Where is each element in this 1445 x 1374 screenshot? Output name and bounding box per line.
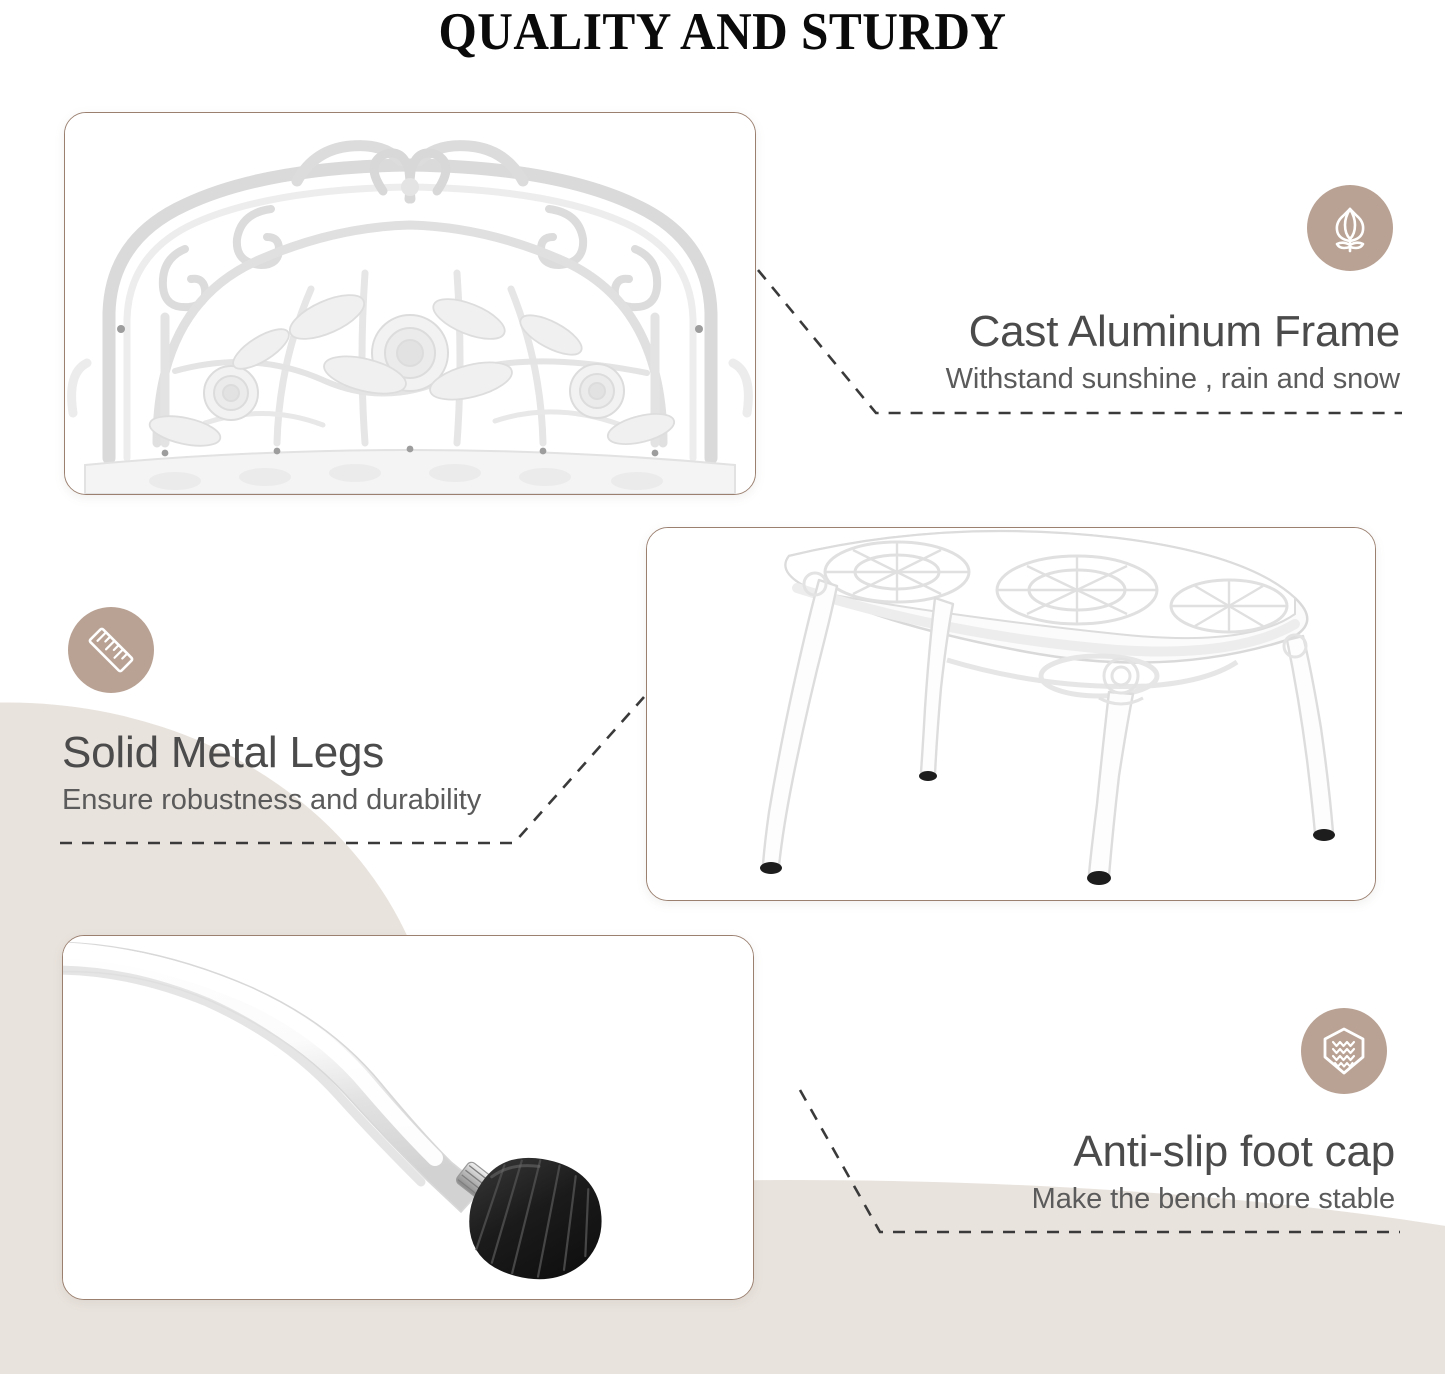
shield-waves-icon [1301,1008,1387,1094]
feature-subtitle: Make the bench more stable [950,1182,1395,1217]
feature-title: Solid Metal Legs [62,729,542,777]
feature-title: Cast Aluminum Frame [930,308,1400,356]
feature-cast-aluminum-frame: Cast Aluminum Frame Withstand sunshine ,… [930,185,1400,396]
ruler-icon [68,607,154,693]
bench-legs-image [647,528,1375,900]
product-infographic: QUALITY AND STURDY [0,0,1445,1374]
feature-anti-slip-foot-cap: Anti-slip foot cap Make the bench more s… [950,1008,1395,1216]
photo-card-foot-cap [62,935,754,1300]
feature-subtitle: Ensure robustness and durability [62,783,542,818]
feature-title: Anti-slip foot cap [950,1128,1395,1176]
feature-subtitle: Withstand sunshine , rain and snow [930,362,1400,397]
photo-card-bench-legs [646,527,1376,901]
ruler-icon-glyph [83,622,139,678]
page-title: QUALITY AND STURDY [51,2,1395,62]
rose-icon [1307,185,1393,271]
feature-solid-metal-legs: Solid Metal Legs Ensure robustness and d… [62,607,542,817]
shield-waves-icon-glyph [1317,1024,1371,1078]
rose-icon-glyph [1323,201,1377,255]
bench-backrest-image [65,113,755,494]
bench-foot-cap-image [63,936,753,1299]
photo-card-bench-backrest [64,112,756,495]
